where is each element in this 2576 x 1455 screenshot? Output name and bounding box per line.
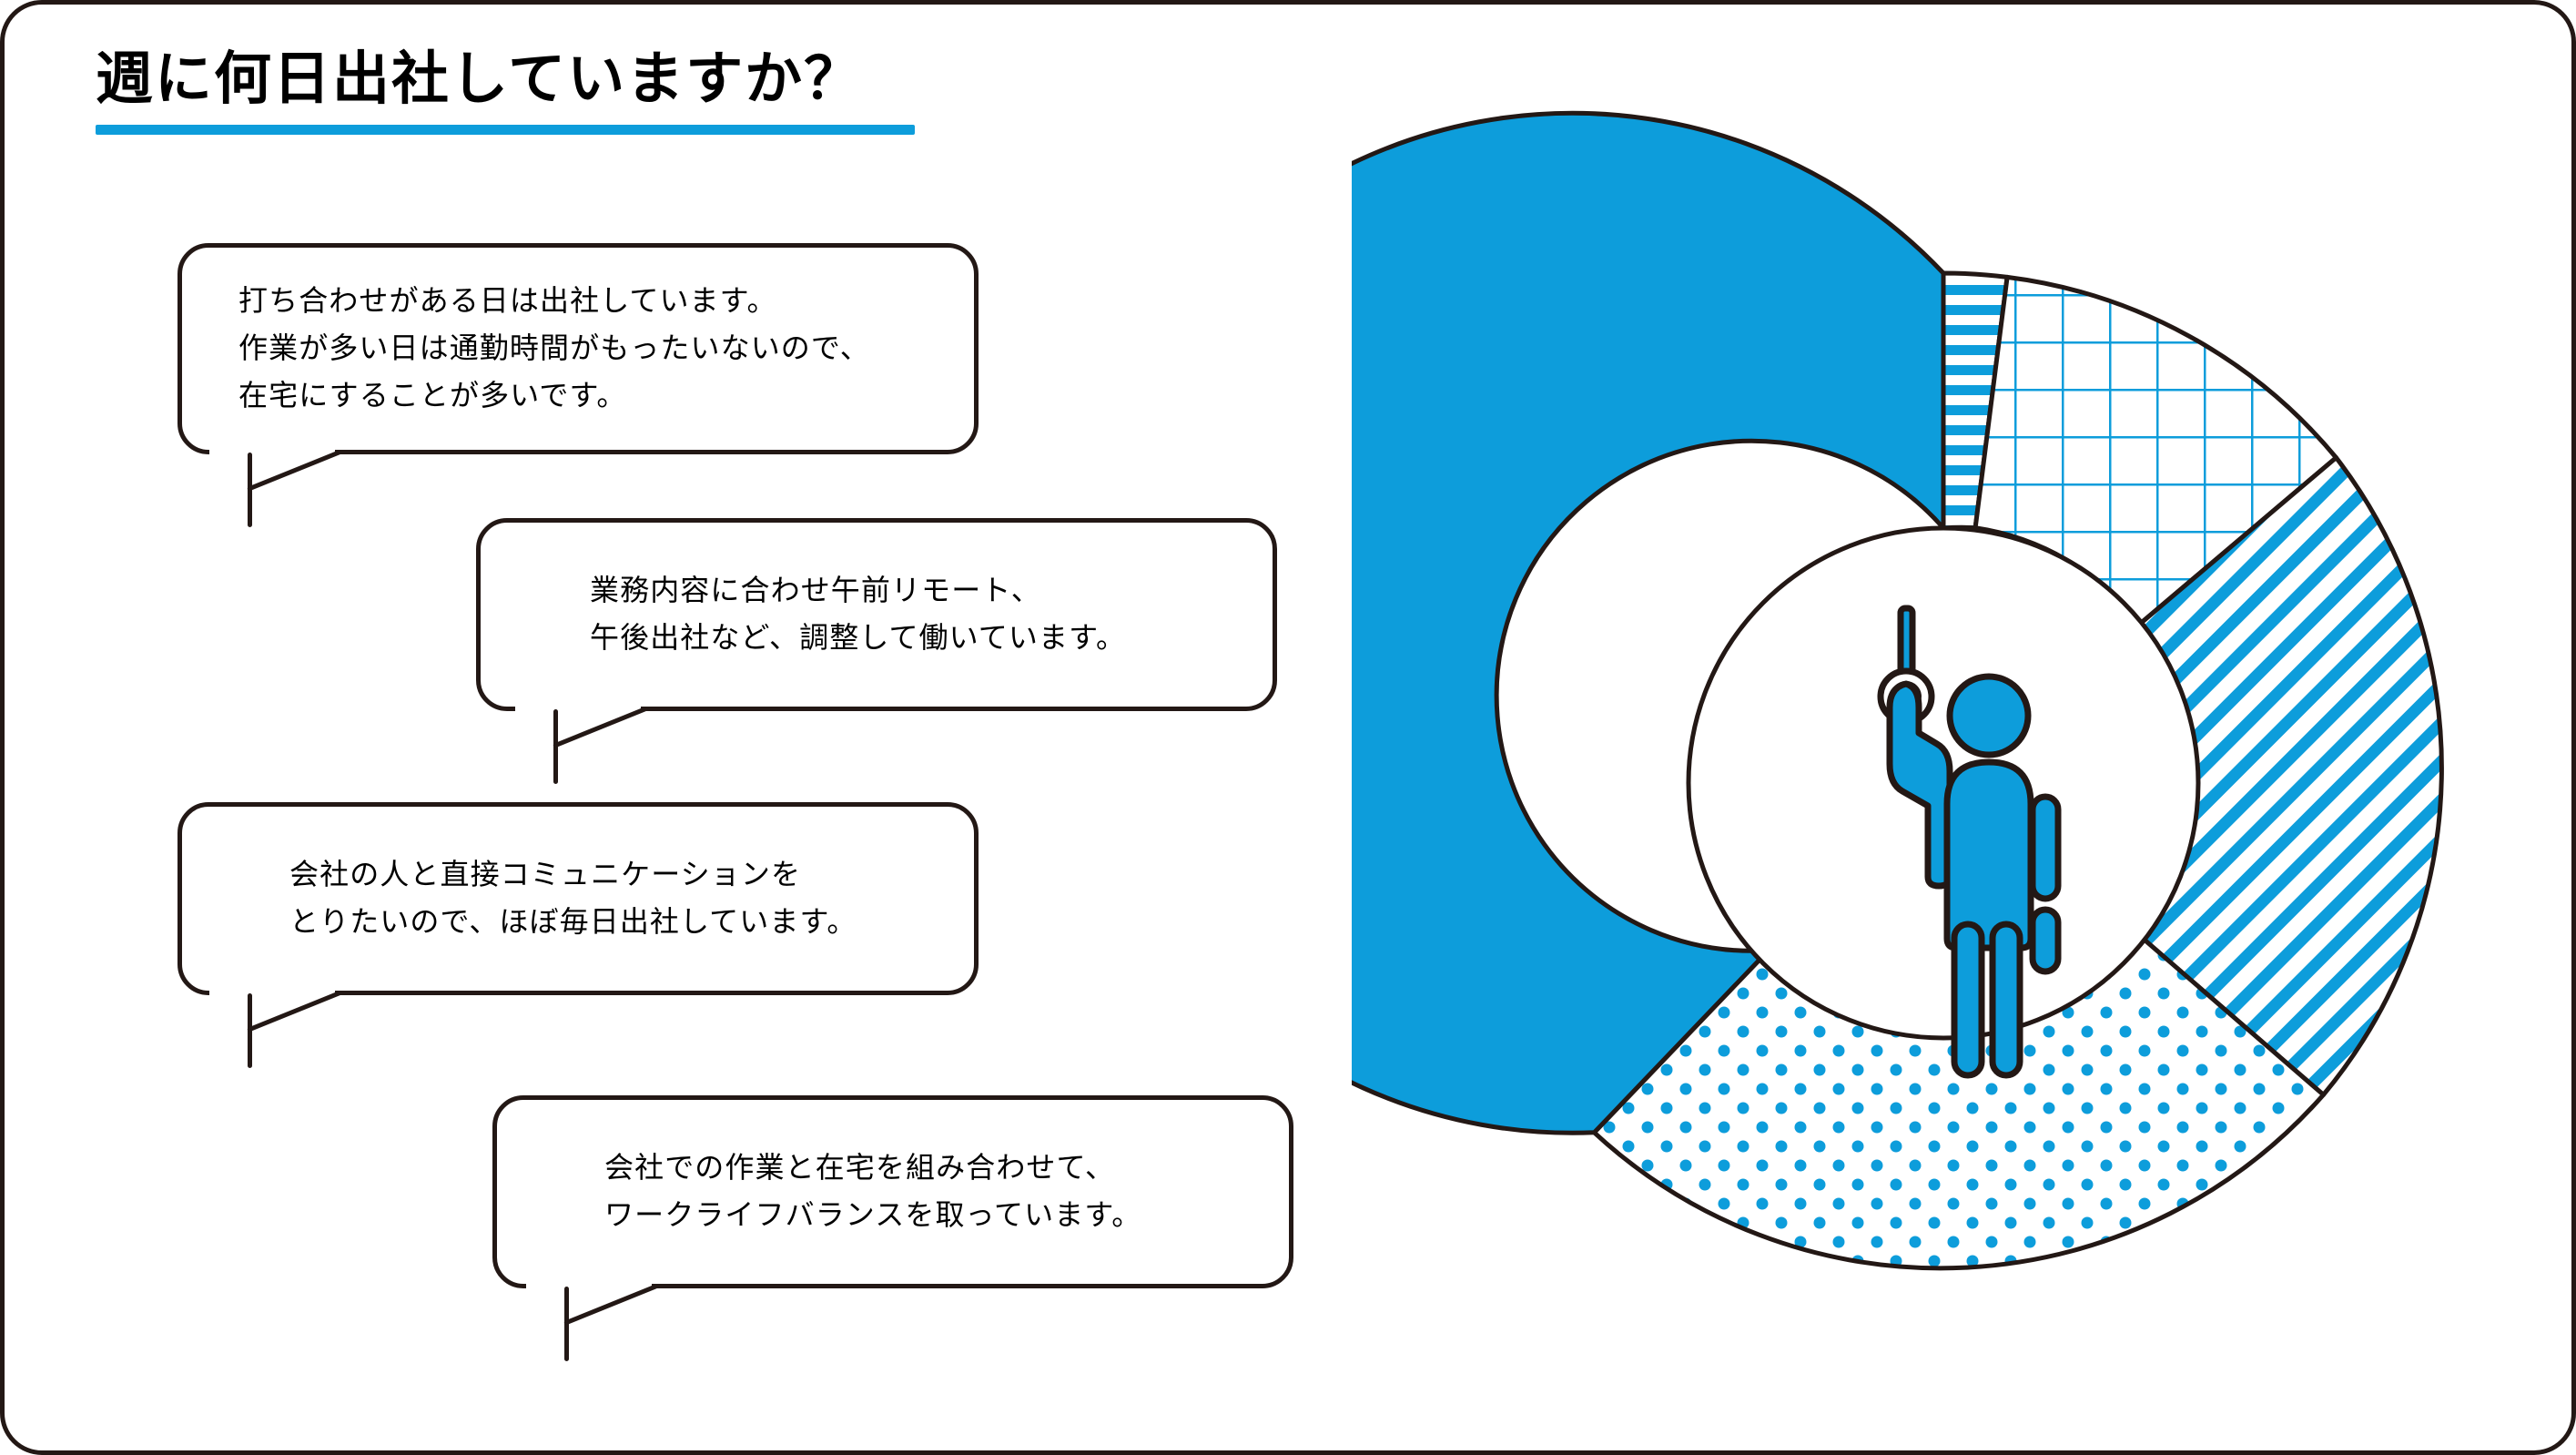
- comment-bubble-4: 会社での作業と在宅を組み合わせて、 ワークライフバランスを取っています。: [492, 1095, 1293, 1288]
- comment-line: とりたいので、ほぼ毎日出社しています。: [289, 899, 974, 946]
- title-block: 週に何日出社していますか？: [96, 46, 915, 135]
- bubble-tail-icon: [521, 1290, 657, 1361]
- page-title: 週に何日出社していますか？: [96, 46, 915, 112]
- comment-line: 打ち合わせがある日は出社しています。: [238, 278, 974, 325]
- donut-chart: 1日 / 週 2% 2日 / 週 12% 3日 / 週 15% 4日 / 週 3…: [1352, 105, 2553, 1379]
- bubble-tail-icon: [204, 997, 340, 1068]
- comment-line: 作業が多い日は通勤時間がもったいないので、: [238, 325, 974, 372]
- comment-bubble-2: 業務内容に合わせ午前リモート、 午後出社など、調整して働いています。: [476, 518, 1277, 711]
- comment-line: 午後出社など、調整して働いています。: [590, 615, 1273, 662]
- title-underline: [96, 125, 915, 135]
- slide-page: 週に何日出社していますか？ 打ち合わせがある日は出社しています。 作業が多い日は…: [0, 0, 2576, 1455]
- comment-bubble-3: 会社の人と直接コミュニケーションを とりたいので、ほぼ毎日出社しています。: [177, 802, 979, 995]
- comment-line: 会社の人と直接コミュニケーションを: [289, 851, 974, 899]
- comment-line: 業務内容に合わせ午前リモート、: [590, 567, 1273, 615]
- bubble-tail-icon: [510, 713, 646, 784]
- comment-bubble-1: 打ち合わせがある日は出社しています。 作業が多い日は通勤時間がもったいないので、…: [177, 243, 979, 454]
- donut-chart-svg: [1352, 105, 2553, 1379]
- comment-line: ワークライフバランスを取っています。: [604, 1192, 1289, 1239]
- comment-line: 会社での作業と在宅を組み合わせて、: [604, 1145, 1289, 1192]
- comment-line: 在宅にすることが多いです。: [238, 372, 974, 420]
- bubble-tail-icon: [204, 456, 340, 527]
